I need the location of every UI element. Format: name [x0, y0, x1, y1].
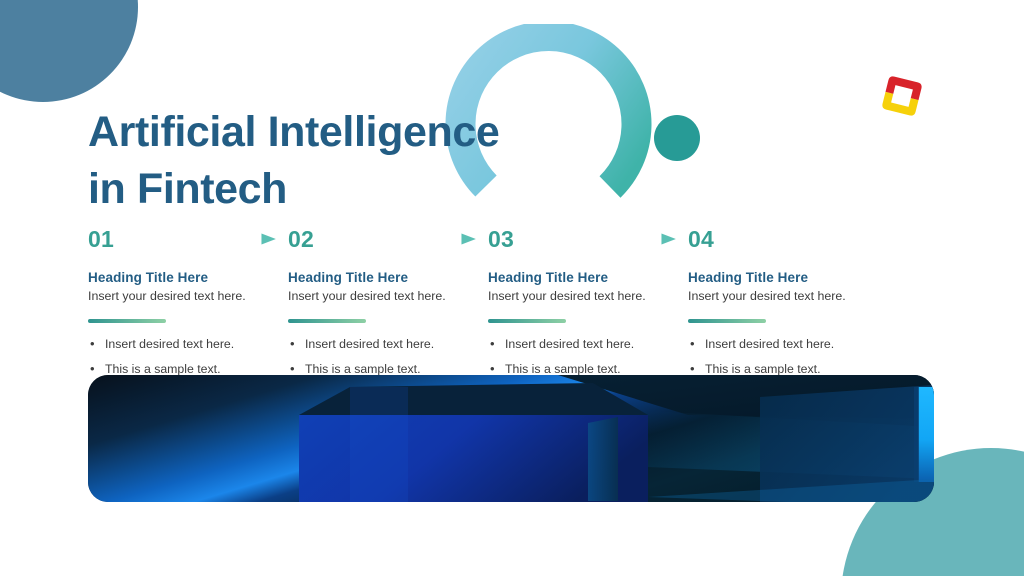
step-subtitle-3: Insert your desired text here. — [488, 289, 688, 303]
step-column-1: 01 Heading Title Here Ins — [88, 224, 288, 387]
step-column-4: 04 Heading Title Here Insert your desire… — [688, 224, 888, 387]
list-item: Insert desired text here. — [688, 337, 888, 351]
step-divider-1 — [88, 319, 166, 323]
arrow-right-icon-3 — [528, 232, 682, 246]
step-heading-2: Heading Title Here — [288, 270, 488, 285]
step-number-4: 04 — [688, 226, 714, 253]
step-header-1: 01 — [88, 224, 288, 254]
step-bullet-list-2: Insert desired text here. This is a samp… — [288, 337, 488, 376]
slide-image — [88, 375, 934, 502]
list-item: Insert desired text here. — [488, 337, 688, 351]
step-divider-3 — [488, 319, 566, 323]
title-line-2: in Fintech — [88, 161, 648, 218]
steps-row: 01 Heading Title Here Ins — [88, 224, 948, 387]
step-header-3: 03 — [488, 224, 688, 254]
step-divider-4 — [688, 319, 766, 323]
step-divider-2 — [288, 319, 366, 323]
step-subtitle-2: Insert your desired text here. — [288, 289, 488, 303]
title-line-1: Artificial Intelligence — [88, 104, 648, 161]
arrow-right-icon-2 — [328, 232, 482, 246]
step-bullet-list-3: Insert desired text here. This is a samp… — [488, 337, 688, 376]
step-bullet-list-4: Insert desired text here. This is a samp… — [688, 337, 888, 376]
step-heading-3: Heading Title Here — [488, 270, 688, 285]
list-item: Insert desired text here. — [288, 337, 488, 351]
top-left-circle-decoration — [0, 0, 138, 102]
list-item: This is a sample text. — [688, 362, 888, 376]
list-item: This is a sample text. — [488, 362, 688, 376]
step-header-4: 04 — [688, 224, 888, 254]
slide-canvas: Artificial Intelligence in Fintech 01 — [0, 0, 1024, 576]
brand-logo-icon — [877, 71, 927, 121]
step-subtitle-1: Insert your desired text here. — [88, 289, 288, 303]
page-title: Artificial Intelligence in Fintech — [88, 104, 648, 218]
step-bullet-list-1: Insert desired text here. This is a samp… — [88, 337, 288, 376]
teal-dot-decoration — [654, 115, 700, 161]
step-column-3: 03 Heading Title Here Ins — [488, 224, 688, 387]
step-subtitle-4: Insert your desired text here. — [688, 289, 888, 303]
list-item: This is a sample text. — [288, 362, 488, 376]
list-item: Insert desired text here. — [88, 337, 288, 351]
step-number-2: 02 — [288, 226, 314, 253]
arrow-right-icon-1 — [128, 232, 282, 246]
step-header-2: 02 — [288, 224, 488, 254]
step-heading-4: Heading Title Here — [688, 270, 888, 285]
step-number-3: 03 — [488, 226, 514, 253]
step-heading-1: Heading Title Here — [88, 270, 288, 285]
step-number-1: 01 — [88, 226, 114, 253]
list-item: This is a sample text. — [88, 362, 288, 376]
step-column-2: 02 Heading Title Here Ins — [288, 224, 488, 387]
